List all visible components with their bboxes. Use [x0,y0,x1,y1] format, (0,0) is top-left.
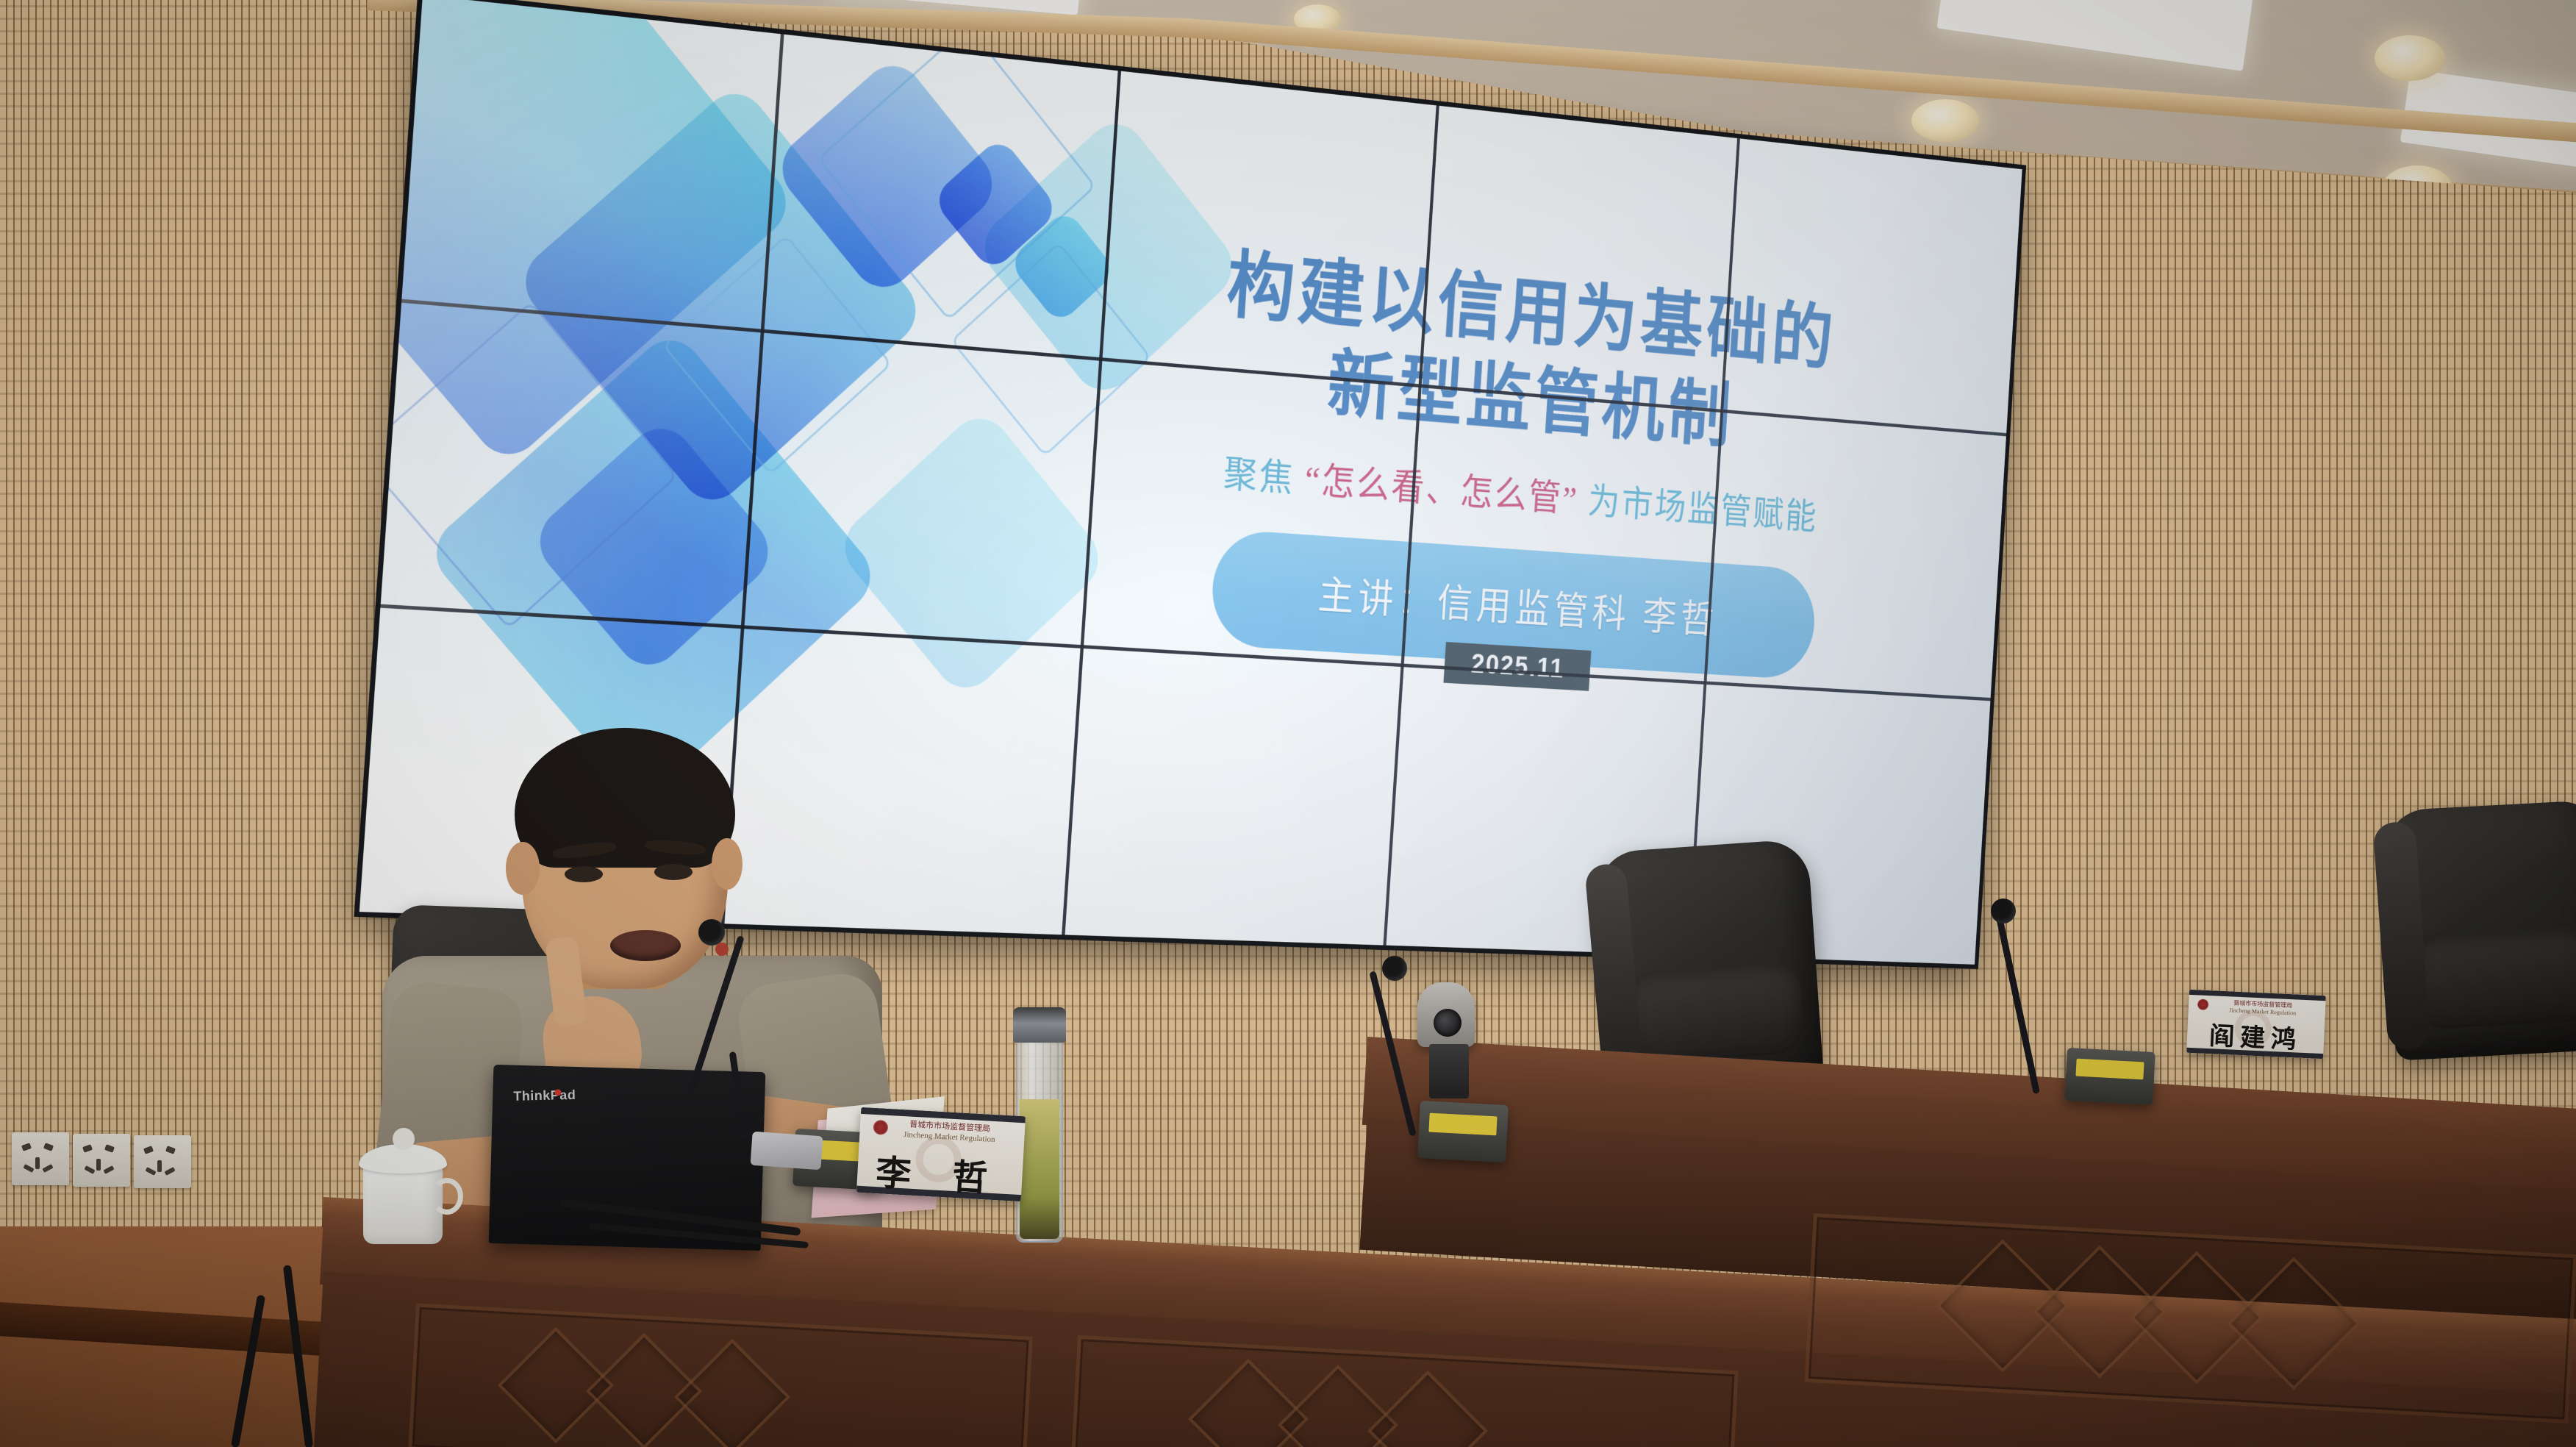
thinkpad-logo: ThinkPad [513,1087,576,1104]
nameplate-person-name: 阎建鸿 [2186,1015,2325,1057]
nameplate-person-name: 李 哲 [856,1143,1023,1201]
cup-handle [431,1178,463,1215]
presenter-eye [565,866,603,882]
nameplate-li-zhe: 晋城市市场监督管理局 Jincheng Market Regulation 李 … [856,1107,1026,1201]
thermos-tea-leaves [1020,1099,1059,1239]
thermos-cap [1013,1007,1066,1043]
microphone-label [2075,1059,2144,1080]
ceramic-tea-cup[interactable] [363,1162,443,1244]
nameplate-yan-jianhong: 晋城市市场监督管理局 Jincheng Market Regulation 阎建… [2186,990,2326,1059]
microphone-capsule [1991,898,2016,923]
presenter-ear [506,842,540,895]
presenter-ear [712,838,743,890]
microphone-label [1428,1113,1497,1136]
ptz-camera-lens [1434,1009,1461,1037]
conference-room-scene: 构建以信用为基础的 新型监管机制 聚焦 “怎么看、怎么管” 为市场监管赋能 主讲… [0,0,2576,1447]
microphone-capsule [1382,956,1407,981]
presenter-eye [654,864,693,880]
microphone-capsule [698,919,725,946]
ptz-camera[interactable] [1417,982,1475,1047]
ptz-camera-mount [1429,1044,1469,1098]
microphone-indicator-ring [715,943,729,956]
mobile-phone[interactable] [751,1132,823,1171]
cup-lid-knob [393,1128,415,1150]
presenter-mouth [610,930,681,961]
